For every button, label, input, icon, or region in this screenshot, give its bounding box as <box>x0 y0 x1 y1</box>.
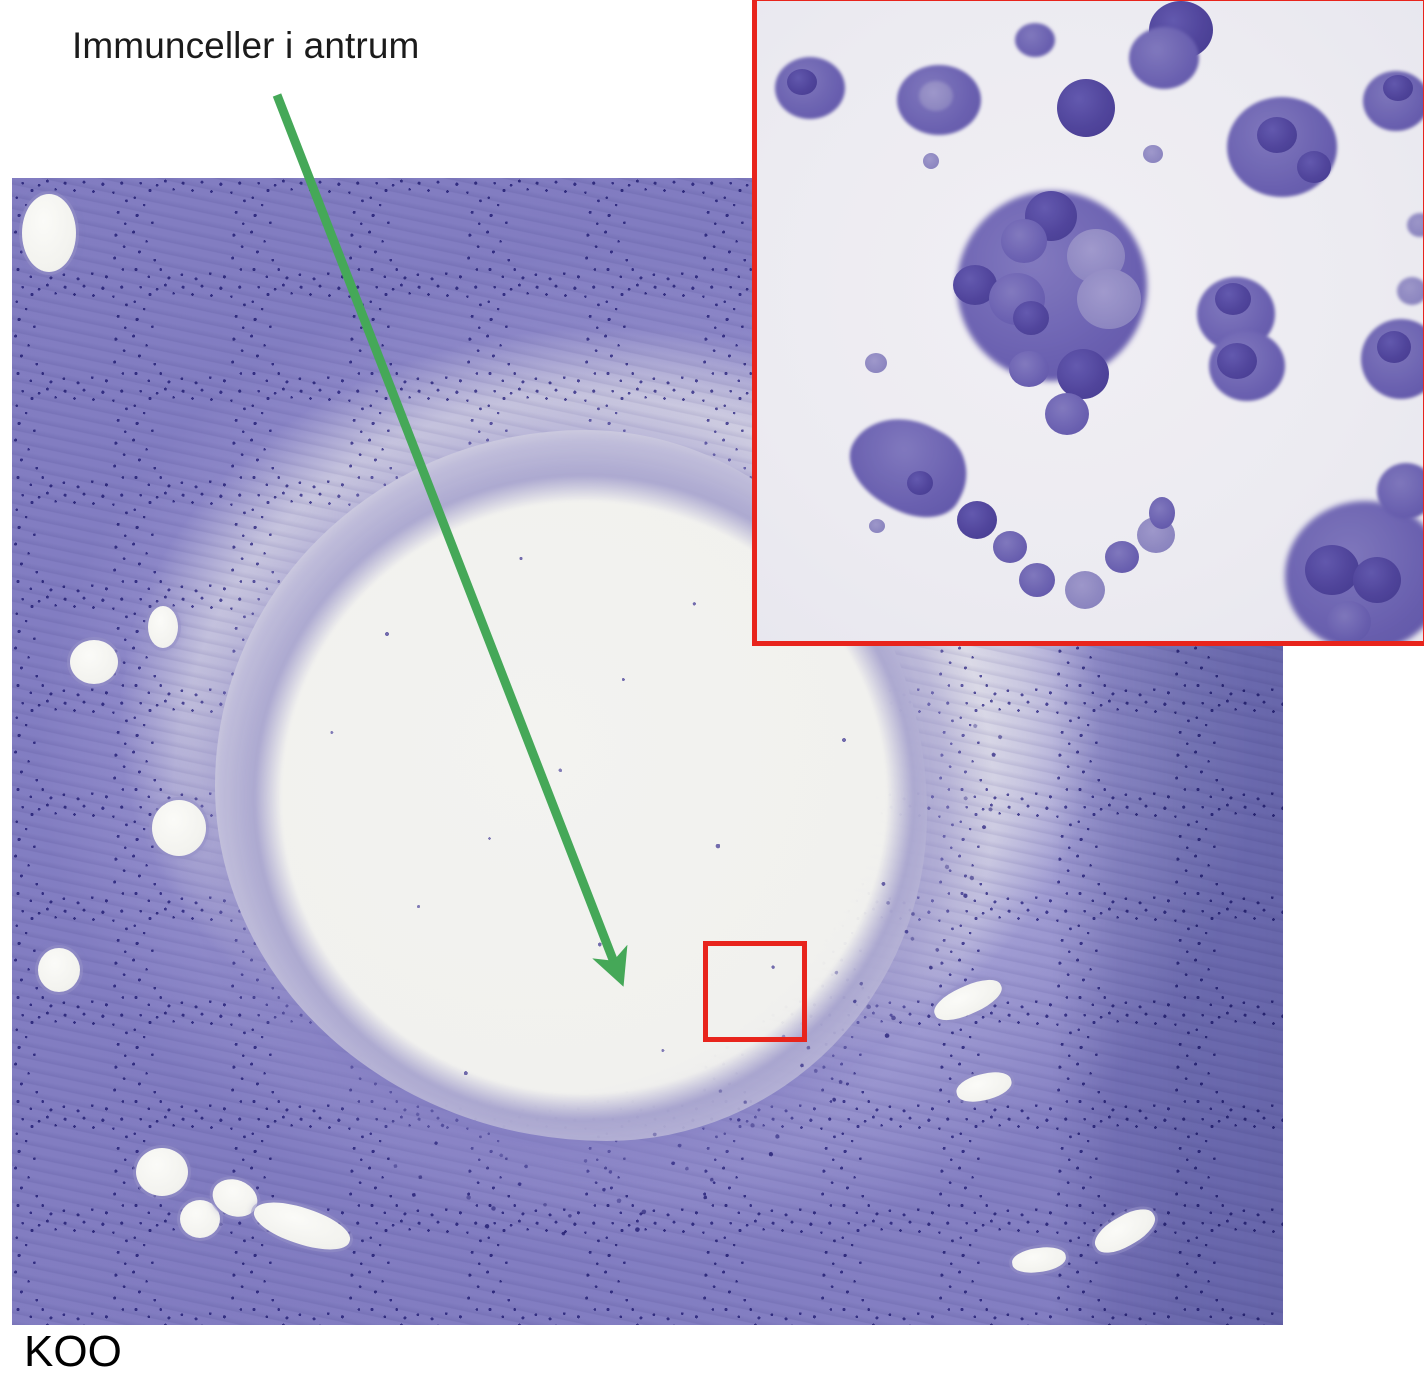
immune-cell <box>1013 301 1049 335</box>
immune-cell <box>1217 343 1257 379</box>
follicle-lumen <box>152 800 206 856</box>
immune-cell <box>1305 545 1359 595</box>
cell-fragment <box>869 519 885 533</box>
slide-footer-label: KOO <box>24 1330 122 1374</box>
follicle-lumen <box>70 640 118 684</box>
immune-cell <box>787 69 817 95</box>
immune-cell <box>919 81 953 111</box>
immune-cell <box>1327 601 1371 643</box>
immune-cell <box>1015 23 1055 57</box>
follicle-lumen <box>38 948 80 992</box>
immune-cell <box>1057 79 1115 137</box>
immune-cell <box>1297 151 1331 183</box>
immune-cell <box>1129 27 1199 89</box>
cell-fragment <box>1407 213 1424 237</box>
immune-cell <box>957 501 997 539</box>
immune-cell <box>1065 571 1105 609</box>
immune-cell <box>1353 557 1401 603</box>
immune-cell <box>1383 75 1413 101</box>
follicle-lumen <box>180 1200 220 1238</box>
immune-cell <box>1057 349 1109 399</box>
immune-cell <box>1019 563 1055 597</box>
immune-cell <box>1105 541 1139 573</box>
roi-rectangle <box>703 941 807 1042</box>
immune-cell <box>1149 497 1175 529</box>
page-title: Immunceller i antrum <box>72 24 419 68</box>
immune-cell <box>1215 283 1251 315</box>
immune-cell <box>1257 117 1297 153</box>
immune-cell <box>1045 393 1089 435</box>
inset-cell-layer <box>757 1 1423 641</box>
immune-cell <box>1001 219 1047 263</box>
immune-cell <box>907 471 933 495</box>
cell-fragment <box>923 153 939 169</box>
cell-fragment <box>1397 277 1424 305</box>
follicle-lumen <box>148 606 178 648</box>
immune-cell <box>993 531 1027 563</box>
inset-micrograph <box>752 0 1424 646</box>
immune-cell <box>1009 351 1049 387</box>
cell-fragment <box>865 353 887 373</box>
immune-cell <box>1377 331 1411 363</box>
cell-fragment <box>1143 145 1163 163</box>
follicle-lumen <box>22 194 76 272</box>
immune-cell <box>1077 269 1141 329</box>
follicle-lumen <box>136 1148 188 1196</box>
